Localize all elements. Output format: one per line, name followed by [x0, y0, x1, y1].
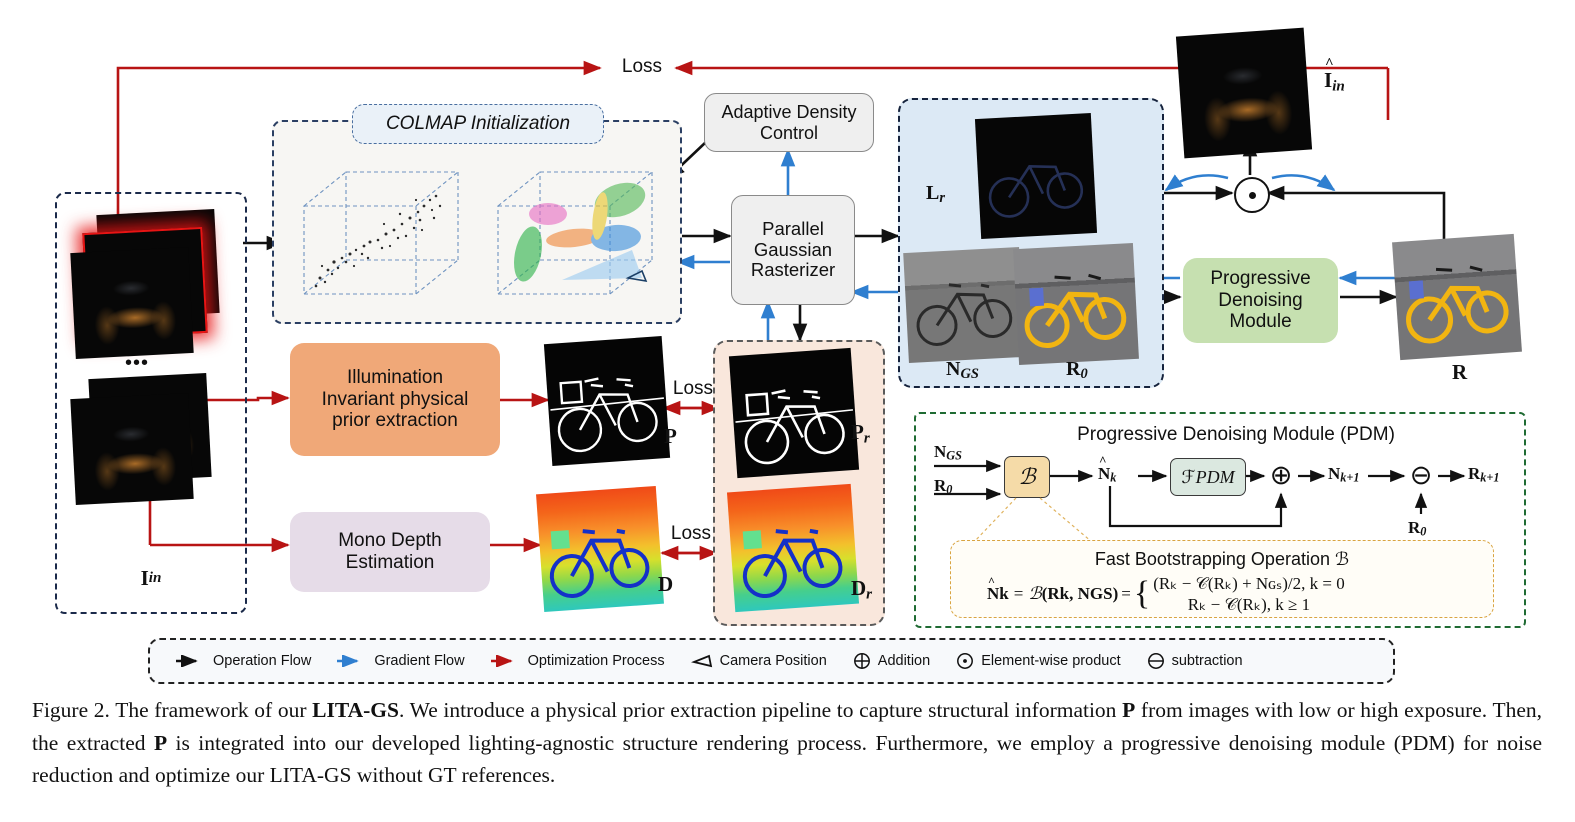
- caption-part2: . We introduce a physical prior extracti…: [399, 698, 1122, 722]
- figure-root: Loss ••• Iin: [0, 0, 1575, 822]
- fast-bootstrapping-box: Fast Bootstrapping Operation ℬ ^Nk = ℬ(R…: [950, 540, 1494, 618]
- dot-circle-icon: [956, 652, 974, 670]
- legend-label: subtraction: [1172, 653, 1243, 669]
- point-cloud-cube: [298, 162, 468, 302]
- input-image-plate: [70, 247, 193, 359]
- label-D: D: [658, 572, 673, 597]
- label-Pr: Pr: [851, 420, 870, 447]
- pdmbox-line3: Module: [1229, 311, 1291, 333]
- loss-label-prior: Loss: [666, 378, 720, 400]
- legend-item-addition: Addition: [853, 652, 930, 670]
- input-images-panel: ••• Iin: [55, 192, 247, 614]
- label-R0: R0: [1066, 358, 1088, 383]
- rendering-output-panel: Lr NGS: [898, 98, 1164, 388]
- illumination-render-Lr: [975, 113, 1097, 239]
- rendered-depth-Dr: [727, 484, 859, 612]
- gaussian-ellipsoids-cube: [492, 162, 662, 302]
- gray-bike-icon: [903, 247, 1025, 363]
- rendered-prior-Pr: [729, 348, 859, 478]
- color-bike-icon: [1392, 234, 1522, 360]
- dark-bike-icon: [975, 113, 1097, 239]
- illumination-invariant-box[interactable]: Illumination Invariant physical prior ex…: [290, 343, 500, 456]
- reflectance-render-R0: [1013, 243, 1139, 365]
- pdmbox-line2: Denoising: [1218, 290, 1303, 312]
- reconstructed-input-Ihat: [1176, 28, 1312, 159]
- edge-bike-icon: [729, 348, 859, 478]
- edge-bike-icon: [544, 336, 670, 466]
- input-panel-label: Iin: [57, 566, 245, 590]
- adc-line2: Control: [760, 123, 818, 143]
- label-P: P: [664, 424, 677, 449]
- pdm-detail-panel: Progressive Denoising Module (PDM) NGS R…: [914, 412, 1526, 628]
- label-Dr-main: D: [851, 576, 866, 600]
- mono-depth-estimation-box[interactable]: Mono Depth Estimation: [290, 512, 490, 592]
- pgr-line2: Gaussian: [754, 240, 832, 261]
- label-Ngs-main: N: [946, 358, 960, 380]
- label-Ihat: ^Iin: [1324, 68, 1345, 95]
- parallel-gaussian-rasterizer-box[interactable]: Parallel Gaussian Rasterizer: [731, 195, 855, 305]
- arrow-blue-icon: [337, 655, 367, 667]
- label-Lr-sub: r: [939, 190, 945, 206]
- label-R0-sub: 0: [1080, 366, 1087, 382]
- colmap-tag: COLMAP Initialization: [352, 104, 604, 144]
- arrow-black-icon: [176, 655, 206, 667]
- ellipsis-indicator: •••: [109, 354, 165, 372]
- caption-part1: The framework of our: [110, 698, 312, 722]
- bootstrapping-title: Fast Bootstrapping Operation ℬ: [951, 547, 1493, 571]
- label-Ihat-sub: in: [1332, 78, 1345, 94]
- loss-label-top: Loss: [610, 56, 674, 78]
- legend-label: Optimization Process: [528, 653, 665, 669]
- caption-symbol-P2: P: [154, 731, 167, 755]
- label-Ngs: NGS: [946, 358, 979, 383]
- pgr-line3: Rasterizer: [751, 260, 835, 281]
- legend-label: Operation Flow: [213, 653, 311, 669]
- label-Lr: Lr: [926, 182, 945, 207]
- plus-circle-icon: [853, 652, 871, 670]
- legend-item-gradient-flow: Gradient Flow: [337, 653, 464, 669]
- structural-prior-P: [544, 336, 670, 466]
- illum-line1: Illumination: [347, 367, 443, 389]
- legend-item-operation-flow: Operation Flow: [176, 653, 311, 669]
- caption-bold-title: LITA-GS: [312, 698, 399, 722]
- minus-circle-icon: [1147, 652, 1165, 670]
- legend-item-optimization-process: Optimization Process: [491, 653, 665, 669]
- input-label-sub: in: [149, 570, 162, 587]
- label-Pr-main: P: [851, 420, 864, 444]
- label-Ngs-sub: GS: [960, 366, 978, 382]
- depth-line2: Estimation: [346, 552, 435, 574]
- input-image-plate: [70, 393, 193, 505]
- caption-prefix: Figure 2.: [32, 698, 110, 722]
- legend-label: Addition: [878, 653, 930, 669]
- depth-map-D: [536, 486, 664, 612]
- legend-label: Camera Position: [720, 653, 827, 669]
- label-Pr-sub: r: [864, 430, 870, 446]
- denoised-output-R: [1392, 234, 1522, 360]
- element-wise-product-node: [1234, 177, 1270, 213]
- caption-symbol-P1: P: [1122, 698, 1135, 722]
- illum-line2: Invariant physical: [322, 389, 469, 411]
- loss-label-depth: Loss: [664, 523, 718, 545]
- figure-caption: Figure 2. The framework of our LITA-GS. …: [32, 694, 1542, 792]
- camera-position-icon: [691, 653, 713, 669]
- gaussian-render-Ngs: [903, 247, 1025, 363]
- depth-bike-icon: [536, 486, 664, 612]
- legend-item-element-wise-product: Element-wise product: [956, 652, 1120, 670]
- colmap-initialization-panel: [272, 120, 682, 324]
- input-label-main: I: [141, 566, 149, 591]
- rendered-prior-panel: Pr Dr: [713, 340, 885, 626]
- bootstrapping-case-1: (Rₖ − 𝒞(Rₖ) + Nɢₛ)/2, k = 0: [1153, 574, 1345, 594]
- pdmbox-line1: Progressive: [1210, 268, 1310, 290]
- pgr-line1: Parallel: [762, 219, 824, 240]
- legend-item-subtraction: subtraction: [1147, 652, 1243, 670]
- legend-label: Element-wise product: [981, 653, 1120, 669]
- progressive-denoising-module-box[interactable]: Progressive Denoising Module: [1183, 258, 1338, 343]
- legend-label: Gradient Flow: [374, 653, 464, 669]
- bootstrapping-case-2: Rₖ − 𝒞(Rₖ), k ≥ 1: [1153, 595, 1345, 615]
- adc-line1: Adaptive Density: [721, 102, 856, 122]
- depth-line1: Mono Depth: [338, 530, 442, 552]
- illum-line3: prior extraction: [332, 410, 458, 432]
- legend-item-camera-position: Camera Position: [691, 653, 827, 669]
- label-Lr-main: L: [926, 182, 939, 204]
- caption-part4: is integrated into our developed lightin…: [32, 731, 1542, 788]
- label-R0-main: R: [1066, 358, 1080, 380]
- adaptive-density-control-box[interactable]: Adaptive Density Control: [704, 93, 874, 152]
- bootstrapping-equation: ^Nk = ℬ(Rk, NGS) = { (Rₖ − 𝒞(Rₖ) + Nɢₛ)/…: [987, 573, 1457, 615]
- label-Dr-sub: r: [866, 586, 872, 602]
- label-R: R: [1452, 360, 1467, 385]
- legend-bar: Operation Flow Gradient Flow Optimizatio…: [148, 638, 1395, 684]
- arrow-red-icon: [491, 655, 521, 667]
- depth-bike-icon: [727, 484, 859, 612]
- color-bike-icon: [1013, 243, 1139, 365]
- label-Dr: Dr: [851, 576, 872, 603]
